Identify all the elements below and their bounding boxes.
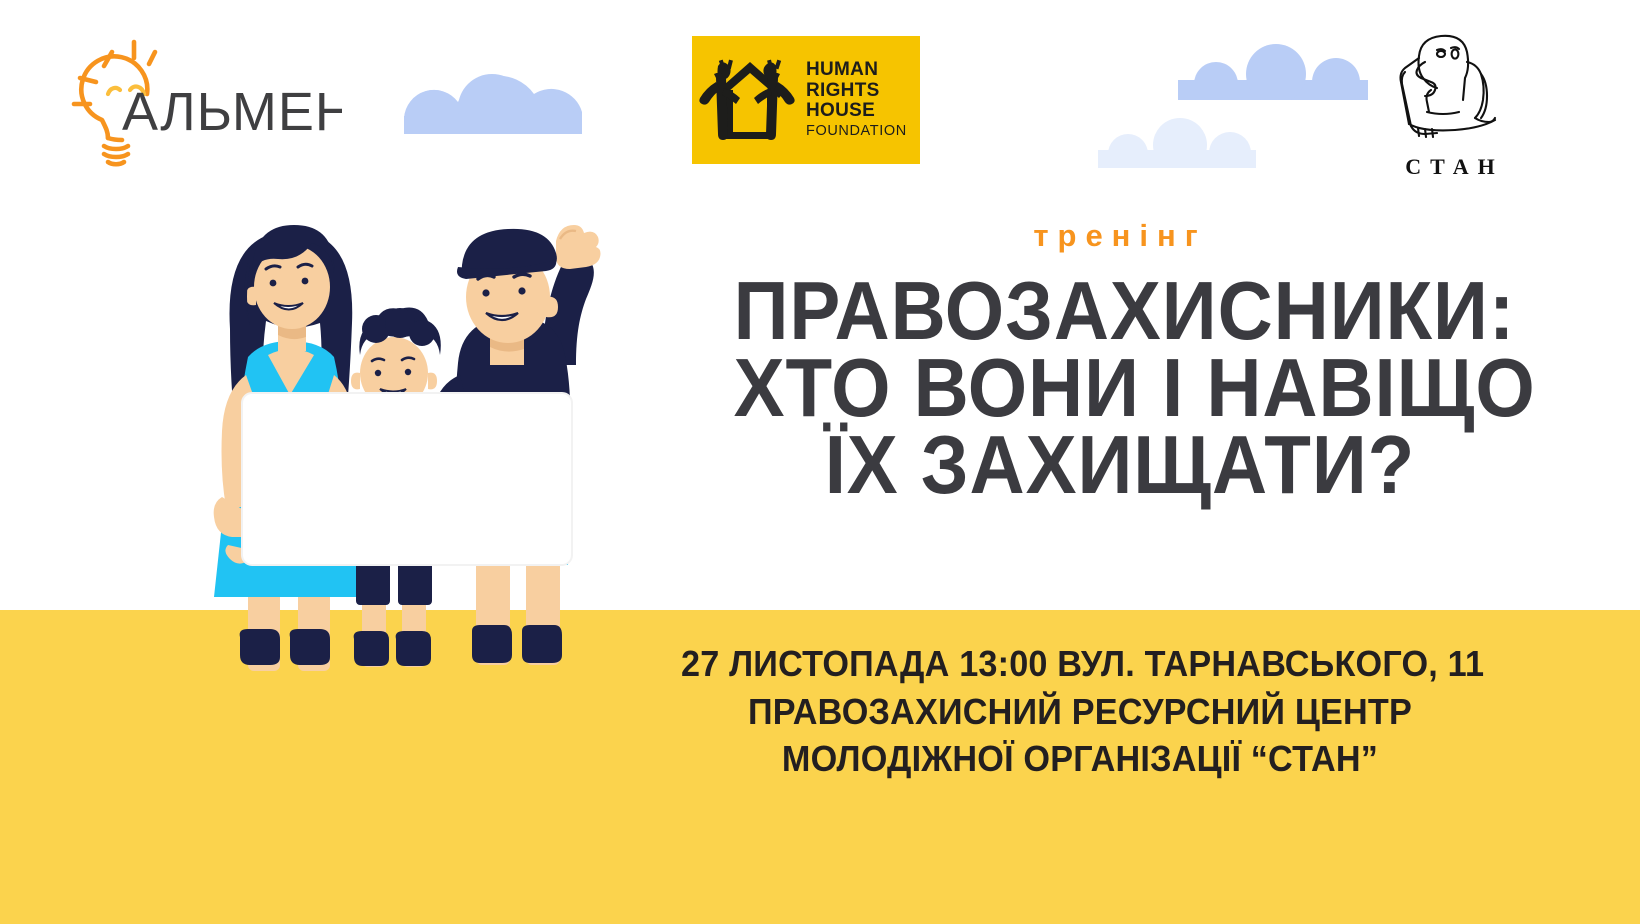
cloud-top-right xyxy=(1172,44,1372,100)
hrhf-line-2: RIGHTS xyxy=(806,81,907,102)
event-details: 27 ЛИСТОПАДА 13:00 ВУЛ. ТАРНАВСЬКОГО, 11… xyxy=(660,640,1500,783)
cloud-left xyxy=(396,72,588,134)
protest-banner xyxy=(242,393,572,565)
hrhf-line-4: FOUNDATION xyxy=(806,124,907,140)
stan-wordmark: СТАН xyxy=(1389,154,1511,180)
hrhf-line-1: HUMAN xyxy=(806,60,907,81)
hrhf-line-3: HOUSE xyxy=(806,101,907,122)
details-line-2: ПРАВОЗАХИСНИЙ РЕСУРСНИЙ ЦЕНТР xyxy=(681,688,1479,736)
event-poster: АЛЬМЕНДА xyxy=(0,0,1640,924)
title-line-3: ЇХ ЗАХИЩАТИ? xyxy=(734,426,1507,503)
thinking-figure-icon xyxy=(1385,28,1515,160)
almenda-wordmark: АЛЬМЕНДА xyxy=(122,82,342,142)
stan-logo[interactable]: СТАН xyxy=(1385,28,1515,178)
cloud-bottom-right xyxy=(1092,118,1262,168)
kicker-training: тренінг xyxy=(740,218,1500,254)
house-with-figures-icon xyxy=(698,48,802,152)
human-rights-house-foundation-logo[interactable]: HUMAN RIGHTS HOUSE FOUNDATION xyxy=(692,36,920,164)
almenda-logo[interactable]: АЛЬМЕНДА xyxy=(52,34,342,174)
details-line-3: МОЛОДІЖНОЇ ОРГАНІЗАЦІЇ “СТАН” xyxy=(681,735,1479,783)
hrhf-wordmark: HUMAN RIGHTS HOUSE FOUNDATION xyxy=(806,60,907,139)
title-line-1: ПРАВОЗАХИСНИКИ: xyxy=(734,272,1507,349)
title-line-2: ХТО ВОНИ І НАВІЩО xyxy=(734,349,1507,426)
protesters-family-illustration xyxy=(190,205,640,685)
poster-title: ПРАВОЗАХИСНИКИ: ХТО ВОНИ І НАВІЩО ЇХ ЗАХ… xyxy=(700,272,1540,504)
details-line-1: 27 ЛИСТОПАДА 13:00 ВУЛ. ТАРНАВСЬКОГО, 11 xyxy=(681,640,1479,688)
